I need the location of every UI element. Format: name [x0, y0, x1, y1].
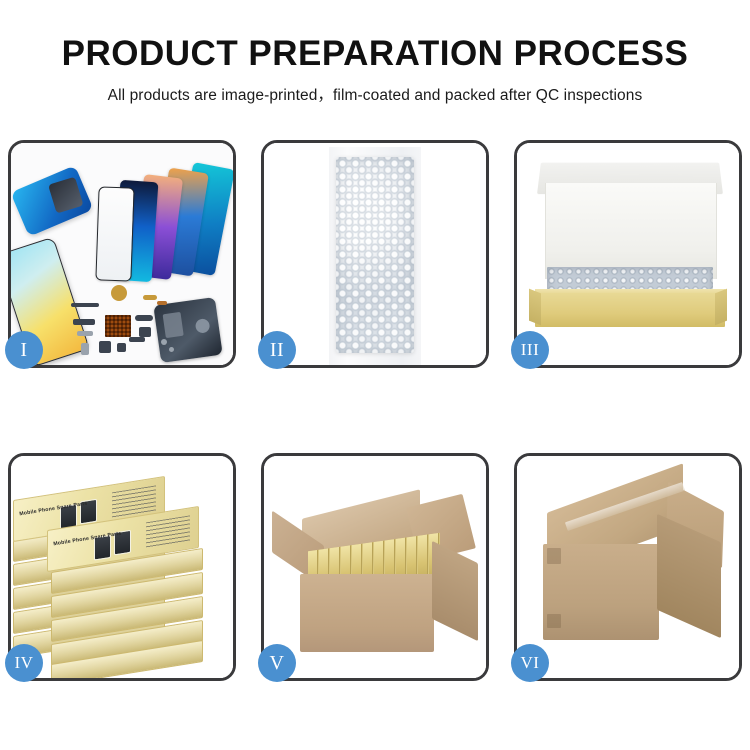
- sealed-carton-illustration: [517, 456, 739, 678]
- page-header: PRODUCT PREPARATION PROCESS All products…: [0, 0, 750, 105]
- step-badge-4: IV: [5, 644, 43, 682]
- process-step-2: II: [261, 140, 489, 368]
- bubble-texture: [336, 157, 414, 353]
- phone-parts-illustration: [11, 143, 233, 365]
- inner-box-illustration: [517, 143, 739, 365]
- box-interior: [545, 183, 717, 279]
- box-side-left: [529, 289, 541, 326]
- spare-parts-cluster: [69, 281, 179, 359]
- step-4-image: Mobile Phone Spare Parts Mobile Phone Sp…: [11, 456, 233, 678]
- box-side-right: [715, 289, 727, 326]
- step-badge-1: I: [5, 331, 43, 369]
- step-badge-6: VI: [511, 644, 549, 682]
- carton-right-panel: [432, 541, 478, 641]
- box-front-panel: [535, 293, 725, 327]
- step-badge-5: V: [258, 644, 296, 682]
- step-3-image: [517, 143, 739, 365]
- process-step-5: V: [261, 453, 489, 681]
- step-2-image: [264, 143, 486, 365]
- step-badge-2: II: [258, 331, 296, 369]
- carton-notch-bottom: [547, 614, 561, 628]
- step-badge-3: III: [511, 331, 549, 369]
- process-step-3: III: [514, 140, 742, 368]
- tempered-glass-icon: [95, 186, 134, 281]
- carton-filling-illustration: [264, 456, 486, 678]
- step-5-image: [264, 456, 486, 678]
- process-step-grid: I II III: [8, 140, 742, 681]
- carton-front-panel: [300, 574, 434, 652]
- process-step-4: Mobile Phone Spare Parts Mobile Phone Sp…: [8, 453, 236, 681]
- bubble-wrap-pouch: [336, 157, 414, 353]
- blue-adhesive-film-icon: [11, 165, 94, 237]
- page-title: PRODUCT PREPARATION PROCESS: [0, 0, 750, 73]
- page-subtitle: All products are image-printed，film-coat…: [0, 73, 750, 105]
- step-6-image: [517, 456, 739, 678]
- stacked-boxes-illustration: Mobile Phone Spare Parts Mobile Phone Sp…: [11, 456, 233, 678]
- process-step-6: VI: [514, 453, 742, 681]
- carton-notch-top: [547, 548, 561, 564]
- bubble-wrap-illustration: [264, 143, 486, 365]
- process-step-1: I: [8, 140, 236, 368]
- step-1-image: [11, 143, 233, 365]
